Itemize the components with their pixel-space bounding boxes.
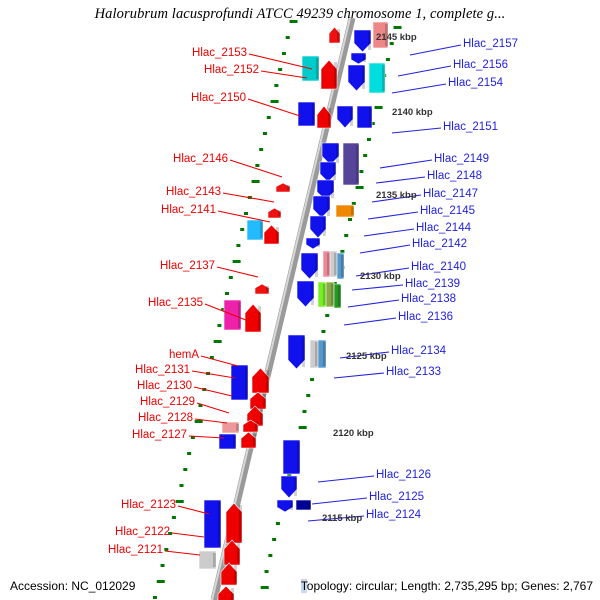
leader-line-hlac_2121 [165,551,200,555]
gene-label-hlac_2138[interactable]: Hlac_2138 [401,293,456,305]
gene-label-hlac_2129[interactable]: Hlac_2129 [140,396,195,408]
gene-label-hlac_2141[interactable]: Hlac_2141 [161,204,216,216]
leader-line-hlac_2137 [217,267,258,277]
leader-line-hlac_2157 [410,45,461,55]
gene-label-hlac_2151[interactable]: Hlac_2151 [443,121,498,133]
leader-line-hlac_2123 [178,506,209,514]
leader-line-hlac_2144 [364,229,414,236]
status-bar: Accession: NC_012029 Topology: circular;… [0,574,600,600]
gene-label-hlac_2149[interactable]: Hlac_2149 [434,153,489,165]
gene-label-hlac_2144[interactable]: Hlac_2144 [416,222,471,234]
gene-label-hlac_2143[interactable]: Hlac_2143 [166,186,221,198]
leader-line-hlac_2130 [194,387,232,396]
leader-line-hlac_2149 [380,160,432,168]
gene-label-hlac_2124[interactable]: Hlac_2124 [366,509,421,521]
genome-viewer: Halorubrum lacusprofundi ATCC 49239 chro… [0,0,600,600]
leader-line-hlac_2152 [261,71,307,78]
gene-label-hlac_2139[interactable]: Hlac_2139 [405,278,460,290]
gene-label-hlac_2128[interactable]: Hlac_2128 [138,412,193,424]
gene-label-hlac_2127[interactable]: Hlac_2127 [132,429,187,441]
gene-label-hlac_2152[interactable]: Hlac_2152 [204,64,259,76]
gene-label-hlac_2140[interactable]: Hlac_2140 [411,261,466,273]
leader-line-hlac_2125 [312,498,367,504]
axis-tick-label: 2120 kbp [333,428,374,439]
gene-label-hlac_2136[interactable]: Hlac_2136 [398,311,453,323]
axis-tick-label: 2135 kbp [376,190,417,201]
gene-label-hlac_2135[interactable]: Hlac_2135 [148,297,203,309]
page-title: Halorubrum lacusprofundi ATCC 49239 chro… [0,6,600,23]
leader-line-hlac_2145 [368,212,418,219]
axis-tick-label: 2140 kbp [392,107,433,118]
leader-line-hlac_2138 [348,300,399,307]
gene-label-hlac_2122[interactable]: Hlac_2122 [115,526,170,538]
accession-label: Accession: NC_012029 [10,579,135,593]
gene-label-hlac_2121[interactable]: Hlac_2121 [108,544,163,556]
gene-label-hlac_2156[interactable]: Hlac_2156 [453,59,508,71]
leader-line-hlac_2131 [192,371,235,378]
gene-label-hlac_2142[interactable]: Hlac_2142 [412,238,467,250]
leader-line-hlac_2146 [230,160,282,177]
leader-line-hlac_2142 [360,245,410,253]
gene-label-hlac_2125[interactable]: Hlac_2125 [369,491,424,503]
gene-label-hlac_2126[interactable]: Hlac_2126 [376,469,431,481]
leader-line-hlac_2151 [392,128,441,133]
gene-label-hlac_2146[interactable]: Hlac_2146 [173,153,228,165]
axis-tick-label: 2125 kbp [346,351,387,362]
gene-label-hlac_2148[interactable]: Hlac_2148 [427,170,482,182]
gene-label-hlac_2147[interactable]: Hlac_2147 [423,188,478,200]
leader-line-hema [201,356,238,366]
leader-line-hlac_2143 [223,193,274,202]
leader-line-hlac_2133 [334,373,384,378]
gene-label-hlac_2123[interactable]: Hlac_2123 [121,499,176,511]
leader-line-hlac_2141 [218,211,270,222]
leader-line-hlac_2150 [248,99,300,116]
leader-line-hlac_2122 [172,533,204,537]
leader-line-hlac_2148 [376,177,425,183]
gene-label-hlac_2150[interactable]: Hlac_2150 [191,92,246,104]
leader-line-hlac_2139 [352,285,403,290]
topology-rest: opology: circular; Length: 2,735,295 bp;… [307,579,593,593]
leader-line-hlac_2128 [195,419,227,423]
topology-label: Topology: circular; Length: 2,735,295 bp… [300,579,594,593]
gene-label-hlac_2134[interactable]: Hlac_2134 [391,345,446,357]
gene-label-hlac_2153[interactable]: Hlac_2153 [192,47,247,59]
gene-label-hlac_2154[interactable]: Hlac_2154 [448,77,503,89]
leader-line-hlac_2135 [205,304,251,322]
gene-label-hlac_2157[interactable]: Hlac_2157 [463,38,518,50]
gene-label-hlac_2131[interactable]: Hlac_2131 [135,364,190,376]
axis-tick-label: 2130 kbp [360,271,401,282]
gene-label-hlac_2145[interactable]: Hlac_2145 [420,205,475,217]
gene-label-hlac_2137[interactable]: Hlac_2137 [160,260,215,272]
leader-line-hlac_2129 [197,403,229,413]
leader-line-hlac_2154 [392,84,446,93]
leader-line-hlac_2127 [189,436,224,438]
gene-label-hlac_2133[interactable]: Hlac_2133 [386,366,441,378]
leader-line-hlac_2136 [344,318,396,325]
gene-label-hlac_2130[interactable]: Hlac_2130 [137,380,192,392]
gene-label-hema[interactable]: hemA [169,349,199,361]
axis-tick-label: 2145 kbp [376,32,417,43]
leader-line-layer [0,0,600,600]
axis-tick-label: 2115 kbp [322,513,362,524]
leader-line-hlac_2126 [318,476,374,482]
leader-line-hlac_2156 [398,66,451,76]
